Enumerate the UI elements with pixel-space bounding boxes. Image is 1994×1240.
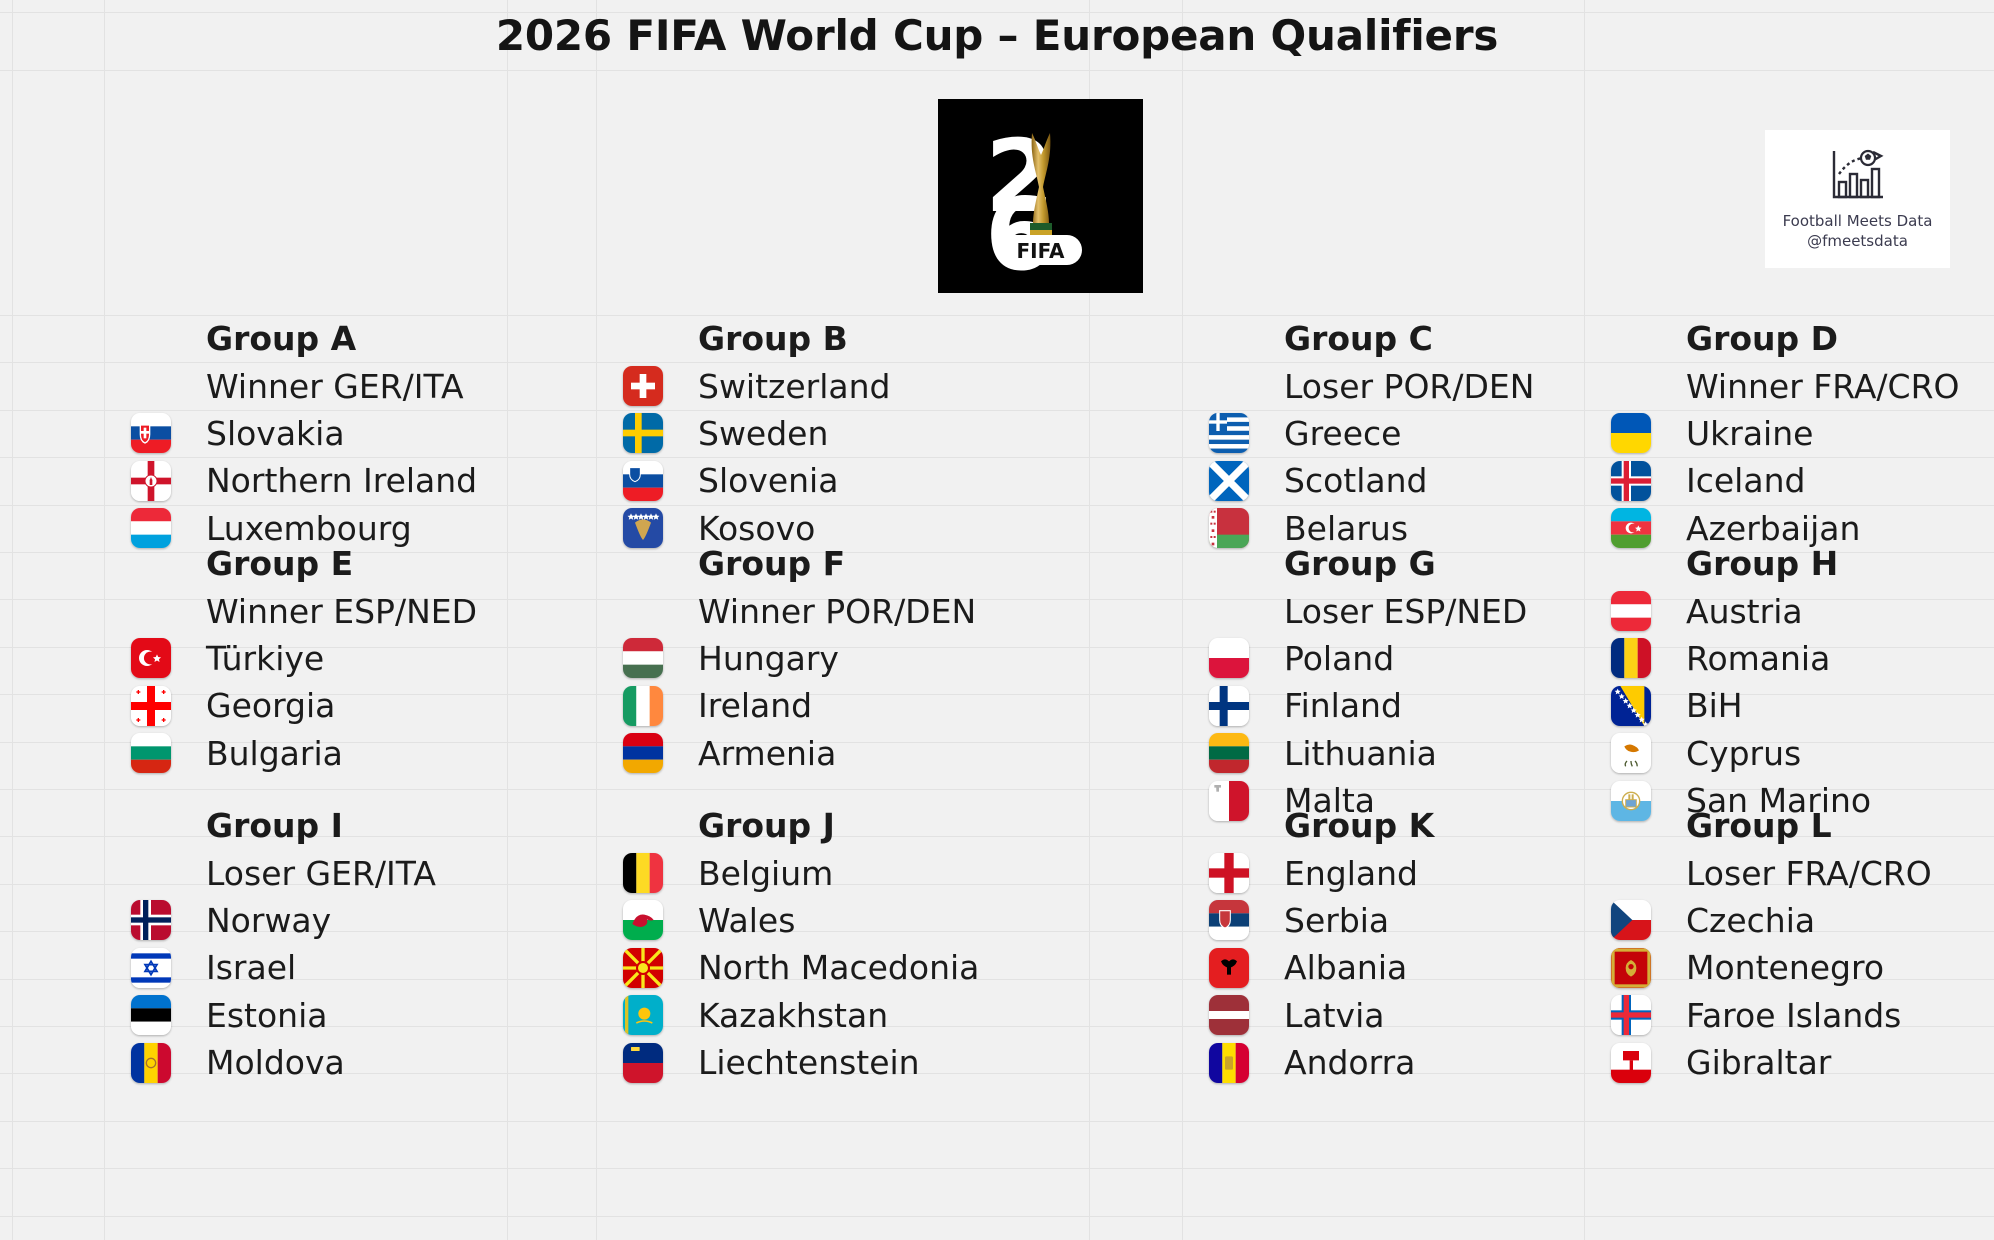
team-name: Türkiye xyxy=(197,635,324,682)
team-name: Cyprus xyxy=(1677,730,1801,777)
group-block-group-l: Group LLoser FRA/CROCzechiaMontenegroFar… xyxy=(1584,802,1932,1086)
flag-cell xyxy=(596,635,689,682)
flag-ireland-icon xyxy=(623,686,663,726)
team-name: Northern Ireland xyxy=(197,457,477,504)
team-row[interactable]: BiH xyxy=(1584,682,1871,729)
flag-estonia-icon xyxy=(131,995,171,1035)
team-row[interactable]: Latvia xyxy=(1182,992,1434,1039)
flag-cell xyxy=(596,730,689,777)
flag-cell xyxy=(596,944,689,991)
team-name: Ireland xyxy=(689,682,812,729)
team-name: England xyxy=(1275,849,1418,896)
team-name: Faroe Islands xyxy=(1677,992,1901,1039)
flag-montenegro-icon xyxy=(1611,948,1651,988)
group-block-group-g: Group GLoser ESP/NEDPolandFinlandLithuan… xyxy=(1182,540,1527,824)
team-name: Czechia xyxy=(1677,897,1815,944)
flag-cell xyxy=(104,897,197,944)
flag-cell xyxy=(596,410,689,457)
page-title: 2026 FIFA World Cup – European Qualifier… xyxy=(496,11,1498,60)
group-title: Group B xyxy=(689,315,848,362)
flag-bih-icon xyxy=(1611,686,1651,726)
team-row[interactable]: Armenia xyxy=(596,730,976,777)
group-title: Group L xyxy=(1677,802,1832,849)
flag-cell xyxy=(1182,587,1275,634)
flag-gibraltar-icon xyxy=(1611,1043,1651,1083)
flag-cell xyxy=(1584,362,1677,409)
flag-turkiye-icon xyxy=(131,638,171,678)
flag-belgium-icon xyxy=(623,853,663,893)
flag-cyprus-icon xyxy=(1611,733,1651,773)
team-row[interactable]: Hungary xyxy=(596,635,976,682)
flag-finland-icon xyxy=(1209,686,1249,726)
flag-cell xyxy=(1584,730,1677,777)
team-row[interactable]: Slovenia xyxy=(596,457,891,504)
group-block-group-f: Group FWinner POR/DENHungaryIrelandArmen… xyxy=(596,540,976,777)
flag-cell-empty xyxy=(1584,802,1677,849)
page-title-row: 2026 FIFA World Cup – European Qualifier… xyxy=(0,0,1994,70)
team-name: Belgium xyxy=(689,849,833,896)
team-row[interactable]: Cyprus xyxy=(1584,730,1871,777)
flag-lithuania-icon xyxy=(1209,733,1249,773)
flag-cell xyxy=(104,410,197,457)
team-row[interactable]: Sweden xyxy=(596,410,891,457)
flag-romania-icon xyxy=(1611,638,1651,678)
team-name: Armenia xyxy=(689,730,836,777)
group-block-group-c: Group CLoser POR/DENGreeceScotlandBelaru… xyxy=(1182,315,1534,552)
team-row[interactable]: Serbia xyxy=(1182,897,1434,944)
team-row[interactable]: Iceland xyxy=(1584,457,1959,504)
flag-cell-empty xyxy=(1584,540,1677,587)
team-row[interactable]: Liechtenstein xyxy=(596,1039,979,1086)
team-name: Ukraine xyxy=(1677,410,1813,457)
team-row[interactable]: England xyxy=(1182,849,1434,896)
flag-ukraine-icon xyxy=(1611,413,1651,453)
team-name: Moldova xyxy=(197,1039,345,1086)
team-name: Loser GER/ITA xyxy=(197,849,436,896)
team-row[interactable]: Bulgaria xyxy=(104,730,477,777)
team-row[interactable]: Loser ESP/NED xyxy=(1182,587,1527,634)
team-row[interactable]: Lithuania xyxy=(1182,730,1527,777)
flag-iceland-icon xyxy=(1611,461,1651,501)
bar-chart-football-icon xyxy=(1827,147,1889,205)
team-name: Serbia xyxy=(1275,897,1389,944)
group-block-group-e: Group EWinner ESP/NEDTürkiyeGeorgiaBulga… xyxy=(104,540,477,777)
group-heading-row: Group J xyxy=(596,802,979,849)
team-row[interactable]: Belgium xyxy=(596,849,979,896)
flag-wales-icon xyxy=(623,900,663,940)
flag-cell xyxy=(104,682,197,729)
flag-andorra-icon xyxy=(1209,1043,1249,1083)
flag-cell xyxy=(1182,992,1275,1039)
flag-cell-empty xyxy=(1182,540,1275,587)
flag-cell-empty xyxy=(596,540,689,587)
group-title: Group A xyxy=(197,315,356,362)
group-block-group-j: Group JBelgiumWalesNorth MacedoniaKazakh… xyxy=(596,802,979,1086)
group-heading-row: Group I xyxy=(104,802,436,849)
group-title: Group F xyxy=(689,540,845,587)
team-row[interactable]: Loser POR/DEN xyxy=(1182,362,1534,409)
team-name: Montenegro xyxy=(1677,944,1884,991)
team-row[interactable]: Czechia xyxy=(1584,897,1932,944)
group-heading-row: Group G xyxy=(1182,540,1527,587)
team-row[interactable]: Albania xyxy=(1182,944,1434,991)
flag-cell xyxy=(596,682,689,729)
team-name: Albania xyxy=(1275,944,1407,991)
flag-cell xyxy=(104,457,197,504)
grid-row-line xyxy=(0,70,1994,71)
team-name: Sweden xyxy=(689,410,828,457)
flag-cell-empty xyxy=(1182,315,1275,362)
flag-cell xyxy=(104,587,197,634)
flag-cell xyxy=(1182,897,1275,944)
team-name: Greece xyxy=(1275,410,1401,457)
group-block-group-i: Group ILoser GER/ITANorwayIsraelEstoniaM… xyxy=(104,802,436,1086)
flag-cell xyxy=(596,457,689,504)
grid-row-line xyxy=(0,1216,1994,1217)
team-row[interactable]: Estonia xyxy=(104,992,436,1039)
team-row[interactable]: Türkiye xyxy=(104,635,477,682)
team-name: Winner GER/ITA xyxy=(197,362,464,409)
flag-austria-icon xyxy=(1611,591,1651,631)
group-block-group-b: Group BSwitzerlandSwedenSloveniaKosovo xyxy=(596,315,891,552)
flag-cell xyxy=(1584,849,1677,896)
team-row[interactable]: Israel xyxy=(104,944,436,991)
flag-sweden-icon xyxy=(623,413,663,453)
flag-cell-empty xyxy=(104,540,197,587)
flag-cell xyxy=(1182,1039,1275,1086)
team-row[interactable]: Faroe Islands xyxy=(1584,992,1932,1039)
flag-moldova-icon xyxy=(131,1043,171,1083)
team-row[interactable]: Winner FRA/CRO xyxy=(1584,362,1959,409)
team-name: Estonia xyxy=(197,992,327,1039)
flag-cell xyxy=(1182,849,1275,896)
flag-cell xyxy=(1182,682,1275,729)
flag-cell xyxy=(1584,410,1677,457)
flag-scotland-icon xyxy=(1209,461,1249,501)
team-name: Andorra xyxy=(1275,1039,1415,1086)
group-heading-row: Group F xyxy=(596,540,976,587)
team-row[interactable]: Moldova xyxy=(104,1039,436,1086)
flag-cell xyxy=(104,362,197,409)
flag-cell xyxy=(1584,1039,1677,1086)
team-row[interactable]: Austria xyxy=(1584,587,1871,634)
flag-slovakia-icon xyxy=(131,413,171,453)
group-title: Group G xyxy=(1275,540,1436,587)
team-name: Austria xyxy=(1677,587,1803,634)
team-name: Norway xyxy=(197,897,331,944)
flag-cell-empty xyxy=(596,802,689,849)
flag-cell xyxy=(596,897,689,944)
group-heading-row: Group A xyxy=(104,315,477,362)
team-row[interactable]: Montenegro xyxy=(1584,944,1932,991)
flag-cell xyxy=(104,730,197,777)
flag-greece-icon xyxy=(1209,413,1249,453)
group-block-group-a: Group AWinner GER/ITASlovakiaNorthern Ir… xyxy=(104,315,477,552)
team-row[interactable]: Romania xyxy=(1584,635,1871,682)
flag-faroe-islands-icon xyxy=(1611,995,1651,1035)
team-name: Hungary xyxy=(689,635,839,682)
team-name: Poland xyxy=(1275,635,1394,682)
group-heading-row: Group C xyxy=(1182,315,1534,362)
group-title: Group E xyxy=(197,540,353,587)
team-name: Loser POR/DEN xyxy=(1275,362,1534,409)
fifa-world-cup-26-logo: 2 6 FIFA xyxy=(938,99,1143,293)
flag-northern-ireland-icon xyxy=(131,461,171,501)
team-name: Kazakhstan xyxy=(689,992,888,1039)
group-block-group-k: Group KEnglandSerbiaAlbaniaLatviaAndorra xyxy=(1182,802,1434,1086)
flag-serbia-icon xyxy=(1209,900,1249,940)
team-name: Scotland xyxy=(1275,457,1427,504)
team-row[interactable]: Loser GER/ITA xyxy=(104,849,436,896)
flag-cell xyxy=(1584,587,1677,634)
team-name: Iceland xyxy=(1677,457,1805,504)
flag-cell xyxy=(104,944,197,991)
team-name: Slovakia xyxy=(197,410,345,457)
flag-cell xyxy=(1182,457,1275,504)
brand-name: Football Meets Data xyxy=(1783,211,1933,231)
flag-cell xyxy=(104,635,197,682)
flag-switzerland-icon xyxy=(623,366,663,406)
team-row[interactable]: Scotland xyxy=(1182,457,1534,504)
flag-cell-empty xyxy=(104,802,197,849)
team-name: Romania xyxy=(1677,635,1830,682)
flag-georgia-icon xyxy=(131,686,171,726)
team-row[interactable]: Poland xyxy=(1182,635,1527,682)
flag-cell-empty xyxy=(104,315,197,362)
flag-cell xyxy=(1182,730,1275,777)
team-name: Georgia xyxy=(197,682,335,729)
group-title: Group K xyxy=(1275,802,1434,849)
team-name: Liechtenstein xyxy=(689,1039,920,1086)
group-heading-row: Group L xyxy=(1584,802,1932,849)
team-name: Israel xyxy=(197,944,296,991)
team-name: Lithuania xyxy=(1275,730,1437,777)
group-heading-row: Group K xyxy=(1182,802,1434,849)
team-name: Loser ESP/NED xyxy=(1275,587,1527,634)
flag-cell xyxy=(596,1039,689,1086)
team-row[interactable]: Loser FRA/CRO xyxy=(1584,849,1932,896)
flag-liechtenstein-icon xyxy=(623,1043,663,1083)
flag-norway-icon xyxy=(131,900,171,940)
flag-cell xyxy=(104,849,197,896)
group-title: Group J xyxy=(689,802,835,849)
flag-cell-empty xyxy=(596,315,689,362)
flag-cell xyxy=(1182,635,1275,682)
flag-cell xyxy=(1182,944,1275,991)
flag-israel-icon xyxy=(131,948,171,988)
grid-row-line xyxy=(0,1121,1994,1122)
flag-cell xyxy=(1584,682,1677,729)
flag-cell xyxy=(596,849,689,896)
flag-cell-empty xyxy=(1182,802,1275,849)
flag-slovenia-icon xyxy=(623,461,663,501)
team-name: Wales xyxy=(689,897,795,944)
group-title: Group H xyxy=(1677,540,1838,587)
group-title: Group C xyxy=(1275,315,1433,362)
football-meets-data-logo: Football Meets Data @fmeetsdata xyxy=(1765,130,1950,268)
team-row[interactable]: Gibraltar xyxy=(1584,1039,1932,1086)
team-row[interactable]: Switzerland xyxy=(596,362,891,409)
team-row[interactable]: Norway xyxy=(104,897,436,944)
team-row[interactable]: Slovakia xyxy=(104,410,477,457)
brand-handle: @fmeetsdata xyxy=(1807,231,1908,251)
group-block-group-d: Group DWinner FRA/CROUkraineIcelandAzerb… xyxy=(1584,315,1959,552)
flag-north-macedonia-icon xyxy=(623,948,663,988)
team-row[interactable]: Georgia xyxy=(104,682,477,729)
team-name: BiH xyxy=(1677,682,1743,729)
flag-czechia-icon xyxy=(1611,900,1651,940)
flag-poland-icon xyxy=(1209,638,1249,678)
team-name: Winner ESP/NED xyxy=(197,587,477,634)
flag-cell xyxy=(596,992,689,1039)
team-row[interactable]: Winner ESP/NED xyxy=(104,587,477,634)
flag-cell xyxy=(1584,635,1677,682)
team-row[interactable]: Northern Ireland xyxy=(104,457,477,504)
team-row[interactable]: Winner GER/ITA xyxy=(104,362,477,409)
team-name: Bulgaria xyxy=(197,730,343,777)
flag-england-icon xyxy=(1209,853,1249,893)
flag-cell xyxy=(596,362,689,409)
flag-cell xyxy=(1584,457,1677,504)
fifa-wordmark: FIFA xyxy=(938,239,1143,263)
flag-cell-empty xyxy=(1584,315,1677,362)
flag-albania-icon xyxy=(1209,948,1249,988)
team-name: Finland xyxy=(1275,682,1402,729)
group-heading-row: Group H xyxy=(1584,540,1871,587)
team-name: Switzerland xyxy=(689,362,891,409)
team-row[interactable]: Ukraine xyxy=(1584,410,1959,457)
flag-cell xyxy=(1584,992,1677,1039)
group-block-group-h: Group HAustriaRomaniaBiHCyprusSan Marino xyxy=(1584,540,1871,824)
flag-latvia-icon xyxy=(1209,995,1249,1035)
flag-hungary-icon xyxy=(623,638,663,678)
flag-cell xyxy=(104,992,197,1039)
flag-kazakhstan-icon xyxy=(623,995,663,1035)
flag-cell xyxy=(1182,362,1275,409)
flag-cell xyxy=(1584,944,1677,991)
flag-cell xyxy=(1584,897,1677,944)
team-name: Slovenia xyxy=(689,457,838,504)
team-name: Winner POR/DEN xyxy=(689,587,976,634)
group-heading-row: Group E xyxy=(104,540,477,587)
group-heading-row: Group B xyxy=(596,315,891,362)
team-row[interactable]: Winner POR/DEN xyxy=(596,587,976,634)
flag-armenia-icon xyxy=(623,733,663,773)
team-row[interactable]: Andorra xyxy=(1182,1039,1434,1086)
team-name: Gibraltar xyxy=(1677,1039,1831,1086)
flag-bulgaria-icon xyxy=(131,733,171,773)
group-title: Group I xyxy=(197,802,343,849)
team-name: Latvia xyxy=(1275,992,1384,1039)
team-name: North Macedonia xyxy=(689,944,979,991)
group-heading-row: Group D xyxy=(1584,315,1959,362)
flag-cell xyxy=(596,587,689,634)
team-row[interactable]: Kazakhstan xyxy=(596,992,979,1039)
flag-cell xyxy=(104,1039,197,1086)
team-row[interactable]: North Macedonia xyxy=(596,944,979,991)
group-title: Group D xyxy=(1677,315,1838,362)
grid-row-line xyxy=(0,1168,1994,1169)
team-row[interactable]: Ireland xyxy=(596,682,976,729)
team-row[interactable]: Wales xyxy=(596,897,979,944)
world-cup-trophy-icon xyxy=(1026,131,1056,249)
team-name: Loser FRA/CRO xyxy=(1677,849,1932,896)
team-row[interactable]: Greece xyxy=(1182,410,1534,457)
team-row[interactable]: Finland xyxy=(1182,682,1527,729)
team-name: Winner FRA/CRO xyxy=(1677,362,1959,409)
flag-cell xyxy=(1182,410,1275,457)
